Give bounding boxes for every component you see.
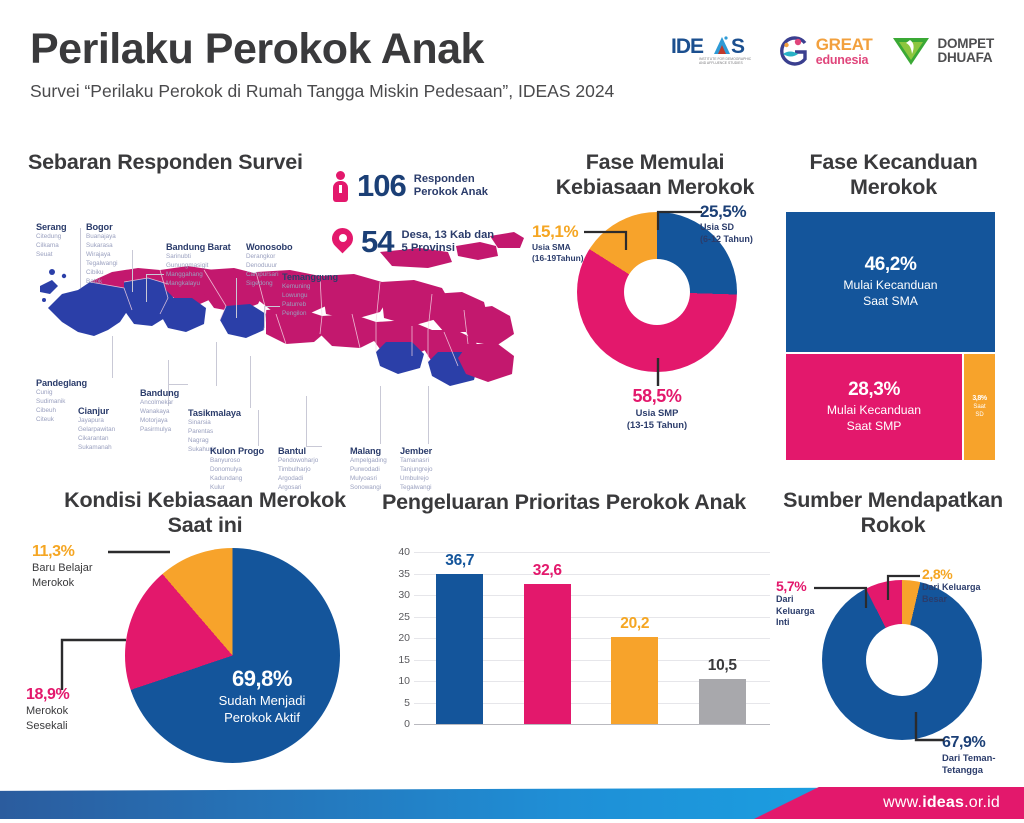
logo-dhuafa-text: DHUAFA — [937, 51, 994, 65]
treemap-box-sd: 3,8% Saat SD — [964, 354, 995, 460]
stat-label: Desa, 13 Kab dan 5 Provinsi — [401, 229, 494, 255]
map-label-bandung: Bandung AncolmekarWanakayaMotorjayaPasir… — [140, 388, 179, 435]
treemap-value: 3,8% — [972, 395, 986, 402]
callout-name: Baru Belajar Merokok — [32, 561, 93, 590]
map-pin-icon — [332, 228, 353, 257]
pie-center-label: 69,8% Sudah Menjadi Perokok Aktif — [187, 666, 337, 726]
stat-villages: 54 Desa, 13 Kab dan 5 Provinsi — [332, 224, 532, 260]
map-label-villages: CitedungCilkamaSeuat — [36, 233, 67, 260]
bar-value: 10,5 — [708, 657, 737, 675]
chart-fase-kecanduan: Fase Kecanduan Merokok 46,2% Mulai Kecan… — [786, 150, 1001, 480]
bar-column-rokok[interactable]: 36,7 — [416, 552, 504, 724]
callout-line-teman-tetangga — [914, 712, 946, 746]
callout-value: 11,3% — [32, 543, 93, 561]
stat-number: 54 — [361, 224, 393, 260]
callout-line-merokok-sesekali — [60, 636, 130, 692]
callout-name: Merokok Sesekali — [26, 704, 69, 733]
callout-teman-tetangga: 67,9% Dari Teman- Tetangga — [942, 734, 995, 776]
map-label-bandung-barat: Bandung Barat SarinubtiGunungmasigitMang… — [166, 242, 231, 289]
callout-line-keluarga-besar — [886, 572, 922, 602]
callout-keluarga-besar: 2,8% Dari Keluarga Besar — [922, 566, 981, 605]
bar-value: 36,7 — [445, 552, 474, 570]
treemap-label: Mulai Kecanduan Saat SMP — [827, 403, 921, 435]
bar-column-makanan[interactable]: 32,6 — [504, 552, 592, 724]
map-label-bogor: Bogor BuanajayaSukarasaWirajayaTegalwang… — [86, 222, 118, 287]
leader-line — [428, 386, 429, 444]
leader-line — [380, 386, 381, 444]
header: Perilaku Perokok Anak Survei “Perilaku P… — [30, 28, 994, 138]
map-label-name: Bandung Barat — [166, 242, 231, 252]
callout-value: 15,1% — [532, 222, 584, 242]
map-label-name: Serang — [36, 222, 67, 232]
map-label-name: Cianjur — [78, 406, 115, 416]
chart-pengeluaran-prioritas: Pengeluaran Prioritas Perokok Anak 40 35… — [358, 490, 770, 780]
bar-column-transportasi[interactable]: 20,2 — [591, 552, 679, 724]
treemap-box-sma: 46,2% Mulai Kecanduan Saat SMA — [786, 212, 995, 352]
chart-kondisi-kebiasaan: Kondisi Kebiasaan Merokok Saat ini 69,8%… — [20, 488, 360, 788]
map-label-cianjur: Cianjur JayapuraGelarpawitanCikarantanSu… — [78, 406, 115, 453]
logo-group: IDE S INSTITUTE FOR DEMOGRAPHIC AND AFFL… — [671, 34, 994, 68]
bar-group: 36,7 32,6 20,2 10,5 — [416, 552, 766, 724]
map-label-jember: Jember TamanasriTanjungrejoUmbulrejoTega… — [400, 446, 433, 493]
treemap-label: Mulai Kecanduan Saat SMA — [843, 278, 937, 310]
leader-line — [146, 274, 147, 302]
infographic-page: Perilaku Perokok Anak Survei “Perilaku P… — [0, 0, 1024, 819]
map-label-villages: TamanasriTanjungrejoUmbulrejoTegalwangi — [400, 457, 433, 493]
y-axis-tick: 25 — [384, 611, 410, 623]
leader-line — [146, 274, 164, 275]
leader-line — [264, 306, 265, 328]
callout-baru-belajar: 11,3% Baru Belajar Merokok — [32, 543, 93, 590]
footer-url[interactable]: www.ideas.or.id — [883, 794, 1000, 812]
svg-text:S: S — [731, 35, 745, 58]
callout-merokok-sesekali: 18,9% Merokok Sesekali — [26, 686, 69, 733]
callout-usia-sma: 15,1% Usia SMA (16-19Tahun) — [532, 222, 584, 264]
treemap: 46,2% Mulai Kecanduan Saat SMA 28,3% Mul… — [786, 212, 995, 460]
callout-usia-sd: 25,5% Usia SD (6-12 Tahun) — [700, 202, 753, 245]
callout-keluarga-inti: 5,7% Dari Keluarga Inti — [776, 578, 815, 629]
person-icon — [332, 171, 349, 202]
map-label-name: Kulon Progo — [210, 446, 264, 456]
footer: www.ideas.or.id — [0, 781, 1024, 819]
leader-line — [168, 384, 188, 385]
chart-sumber-rokok: Sumber Mendapatkan Rokok 2,8% Dari Kelua… — [762, 488, 1024, 788]
map-label-kulon-progo: Kulon Progo BanyurosoDonomulyaKadundangK… — [210, 446, 264, 493]
chart-title: Fase Memulai Kebiasaan Merokok — [530, 150, 780, 199]
y-axis-tick: 5 — [384, 697, 410, 709]
chart-title-text: Sumber Mendapatkan Rokok — [783, 488, 1003, 537]
chart-title: Sumber Mendapatkan Rokok — [762, 488, 1024, 537]
callout-line-baru-belajar — [108, 548, 174, 558]
treemap-value: 46,2% — [865, 254, 917, 276]
stat-label-line1: Desa, 13 Kab dan — [401, 229, 494, 241]
leader-line — [264, 306, 280, 307]
map-label-name: Bandung — [140, 388, 179, 398]
callout-line-usia-smp — [656, 358, 660, 388]
treemap-value: 28,3% — [848, 379, 900, 401]
callout-value: 5,7% — [776, 578, 815, 594]
logo-edunesia-text: edunesia — [816, 54, 873, 67]
map-label-villages: JayapuraGelarpawitanCikarantanSukamanah — [78, 417, 115, 453]
map-label-name: Temanggung — [282, 272, 338, 282]
callout-name: Dari Keluarga Besar — [922, 582, 981, 605]
footer-url-brand: ideas — [922, 794, 964, 811]
map-label-temanggung: Temanggung KemuningLowunguPaturrebPengil… — [282, 272, 338, 319]
callout-value: 2,8% — [922, 566, 981, 582]
bar-rect — [699, 679, 746, 724]
logo-great-text: GREAT — [816, 36, 873, 53]
leader-line — [112, 336, 113, 378]
map-label-serang: Serang CitedungCilkamaSeuat — [36, 222, 67, 260]
chart-title-text: Pengeluaran Prioritas Perokok Anak — [382, 490, 746, 514]
bar-value: 20,2 — [620, 615, 649, 633]
page-subtitle: Survei “Perilaku Perokok di Rumah Tangga… — [30, 81, 670, 103]
y-axis-tick: 0 — [384, 718, 410, 730]
y-axis-tick: 10 — [384, 675, 410, 687]
y-axis-tick: 40 — [384, 546, 410, 558]
leader-line — [132, 250, 133, 292]
survey-stats: 106 Responden Perokok Anak 54 Desa, 13 K… — [332, 168, 532, 280]
callout-line-usia-sma — [584, 228, 630, 252]
chart-fase-memulai: Fase Memulai Kebiasaan Merokok 25,5% Usi… — [530, 150, 780, 480]
ideas-logo-icon: IDE S INSTITUTE FOR DEMOGRAPHIC AND AFFL… — [671, 34, 757, 68]
map-label-name: Wonosobo — [246, 242, 293, 252]
dompet-dhuafa-mark-icon — [890, 34, 932, 68]
map-label-name: Jember — [400, 446, 433, 456]
chart-title-text: Fase Kecanduan Merokok — [809, 150, 977, 199]
bar-rect — [436, 574, 483, 724]
map-label-villages: AncolmekarWanakayaMotorjayaPasirmulya — [140, 399, 179, 435]
leader-line — [306, 396, 307, 446]
callout-value: 25,5% — [700, 202, 753, 222]
logo-dompet-dhuafa: DOMPET DHUAFA — [890, 34, 994, 68]
bar-column-pulsa[interactable]: 10,5 — [679, 552, 767, 724]
stat-label-line2: Perokok Anak — [414, 186, 488, 198]
callout-name: Dari Teman- Tetangga — [942, 752, 995, 776]
map-label-villages: SarinubtiGunungmasigitManggahangMangkala… — [166, 253, 231, 289]
pie-chart-kondisi: 69,8% Sudah Menjadi Perokok Aktif — [125, 548, 340, 763]
treemap-label: Saat SD — [973, 404, 985, 419]
leader-line — [236, 278, 237, 318]
bar-rect — [611, 637, 658, 724]
map-label-villages: KemuningLowunguPaturrebPengilon — [282, 283, 338, 319]
pie-center-text: Sudah Menjadi Perokok Aktif — [187, 693, 337, 726]
treemap-box-smp: 28,3% Mulai Kecanduan Saat SMP — [786, 354, 962, 460]
y-axis-tick: 15 — [384, 654, 410, 666]
map-label-villages: BuanajayaSukarasaWirajayaTegalwangiCibik… — [86, 233, 118, 287]
stat-label: Responden Perokok Anak — [414, 173, 488, 199]
bar-rect — [524, 584, 571, 724]
map-label-name: Pandeglang — [36, 378, 87, 388]
footer-url-prefix: www. — [883, 794, 922, 811]
stat-respondents: 106 Responden Perokok Anak — [332, 168, 532, 204]
logo-ideas: IDE S INSTITUTE FOR DEMOGRAPHIC AND AFFL… — [671, 34, 757, 68]
bar-value: 32,6 — [533, 562, 562, 580]
leader-line — [250, 356, 251, 408]
callout-value: 58,5% — [582, 386, 732, 407]
map-label-bantul: Bantul PendowoharjoTimbulharjoArgodadiAr… — [278, 446, 318, 493]
leader-line — [258, 410, 259, 446]
callout-name: Dari Keluarga Inti — [776, 594, 815, 629]
y-axis-tick: 30 — [384, 589, 410, 601]
callout-name: Usia SMP (13-15 Tahun) — [582, 407, 732, 431]
grid-line — [414, 724, 770, 725]
bar-plot-area: 40 35 30 25 20 15 10 5 0 36,7 32,6 20,2 — [384, 552, 770, 724]
leader-line — [216, 342, 217, 386]
callout-line-usia-sd — [656, 208, 704, 232]
callout-line-keluarga-inti — [814, 584, 870, 610]
callout-name: Usia SD (6-12 Tahun) — [700, 222, 753, 245]
chart-title: Fase Kecanduan Merokok — [786, 150, 1001, 199]
map-label-malang: Malang AmpelgadingPurwodadiMulyoasriSono… — [350, 446, 387, 493]
footer-url-suffix: .or.id — [964, 794, 1000, 811]
y-axis-tick: 35 — [384, 568, 410, 580]
chart-title: Kondisi Kebiasaan Merokok Saat ini — [20, 488, 360, 537]
svg-text:AND AFFLUENCE STUDIES: AND AFFLUENCE STUDIES — [699, 61, 743, 65]
callout-value: 67,9% — [942, 734, 995, 752]
stat-number: 106 — [357, 168, 406, 204]
map-label-name: Bantul — [278, 446, 318, 456]
chart-title-text: Kondisi Kebiasaan Merokok Saat ini — [64, 488, 346, 537]
callout-usia-smp: 58,5% Usia SMP (13-15 Tahun) — [582, 386, 732, 431]
y-axis-tick: 20 — [384, 632, 410, 644]
logo-dompet-text: DOMPET — [937, 37, 994, 51]
chart-title: Pengeluaran Prioritas Perokok Anak — [358, 490, 770, 515]
callout-name: Usia SMA (16-19Tahun) — [532, 242, 584, 264]
map-label-name: Bogor — [86, 222, 118, 232]
stat-label-line1: Responden — [414, 173, 475, 185]
pie-center-value: 69,8% — [187, 666, 337, 692]
stat-label-line2: 5 Provinsi — [401, 242, 454, 254]
map-label-name: Malang — [350, 446, 387, 456]
map-label-name: Tasikmalaya — [188, 408, 241, 418]
leader-line — [80, 228, 81, 288]
logo-great-edunesia: GREAT edunesia — [775, 34, 873, 68]
great-edunesia-mark-icon — [775, 34, 811, 68]
svg-text:IDE: IDE — [671, 35, 704, 58]
chart-title-text: Fase Memulai Kebiasaan Merokok — [556, 150, 755, 199]
